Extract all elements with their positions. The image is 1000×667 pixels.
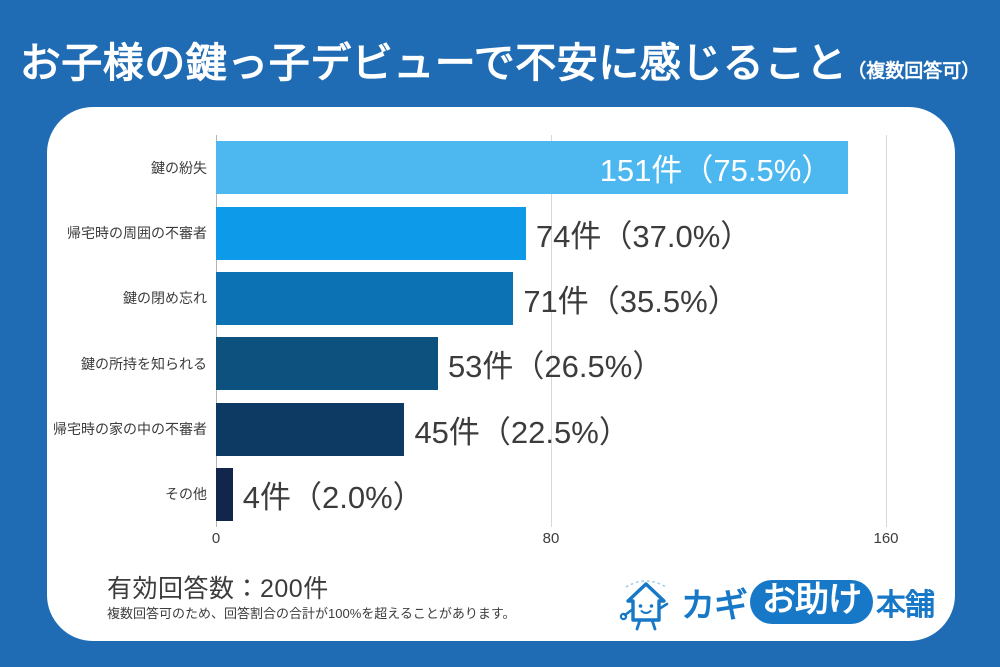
bar-chart: 鍵の紛失帰宅時の周囲の不審者鍵の閉め忘れ鍵の所持を知られる帰宅時の家の中の不審者… (47, 107, 955, 547)
bar-row: 151件（75.5%） (216, 141, 886, 194)
bar-row: 53件（26.5%） (216, 337, 886, 390)
content-card: 鍵の紛失帰宅時の周囲の不審者鍵の閉め忘れ鍵の所持を知られる帰宅時の家の中の不審者… (47, 107, 955, 641)
valid-responses-text: 有効回答数：200件 (107, 569, 329, 605)
brand-logo-part3: 本舗 (876, 580, 934, 624)
bar-rows: 151件（75.5%）74件（37.0%）71件（35.5%）53件（26.5%… (216, 135, 886, 527)
category-label-5: その他 (47, 468, 207, 521)
bar-row: 45件（22.5%） (216, 403, 886, 456)
plot-area: 151件（75.5%）74件（37.0%）71件（35.5%）53件（26.5%… (216, 135, 886, 527)
brand-logo-part2: お助け (750, 580, 873, 623)
x-tick-label-80: 80 (543, 530, 560, 547)
page-title: お子様の鍵っ子デビューで不安に感じること （複数回答可） (0, 22, 1000, 84)
category-label-1: 帰宅時の周囲の不審者 (47, 207, 207, 260)
brand-logo-text: カギ お助け 本舗 (681, 578, 934, 627)
bar-value-label-5: 4件（2.0%） (233, 472, 424, 517)
bar-value-label-0: 151件（75.5%） (600, 145, 849, 190)
bar-3[interactable] (216, 337, 438, 390)
bar-value-label-2: 71件（35.5%） (513, 276, 738, 321)
brand-logo: カギ お助け 本舗 (615, 569, 935, 635)
footer-note-text: 複数回答可のため、回答割合の合計が100%を超えることがあります。 (107, 603, 516, 622)
x-tick-label-0: 0 (212, 530, 220, 547)
bar-4[interactable] (216, 403, 404, 456)
bar-row: 74件（37.0%） (216, 207, 886, 260)
bar-row: 4件（2.0%） (216, 468, 886, 521)
category-label-4: 帰宅時の家の中の不審者 (47, 403, 207, 456)
bar-row: 71件（35.5%） (216, 272, 886, 325)
brand-logo-part1: カギ (681, 578, 747, 627)
category-label-0: 鍵の紛失 (47, 141, 207, 194)
bar-0[interactable]: 151件（75.5%） (216, 141, 848, 194)
gridline-160 (886, 135, 887, 527)
bar-value-label-4: 45件（22.5%） (404, 407, 629, 452)
page-title-main: お子様の鍵っ子デビューで不安に感じること (20, 43, 848, 84)
house-mascot-icon (615, 571, 677, 633)
x-axis-tick-labels: 080160 (216, 530, 886, 554)
infographic-root: お子様の鍵っ子デビューで不安に感じること （複数回答可） 鍵の紛失帰宅時の周囲の… (0, 0, 1000, 667)
bar-2[interactable] (216, 272, 513, 325)
bar-value-label-3: 53件（26.5%） (438, 341, 663, 386)
x-tick-label-160: 160 (873, 530, 898, 547)
bar-5[interactable] (216, 468, 233, 521)
bar-1[interactable] (216, 207, 526, 260)
category-axis-labels: 鍵の紛失帰宅時の周囲の不審者鍵の閉め忘れ鍵の所持を知られる帰宅時の家の中の不審者… (47, 135, 207, 527)
bar-value-label-1: 74件（37.0%） (526, 211, 751, 256)
category-label-2: 鍵の閉め忘れ (47, 272, 207, 325)
page-title-sub: （複数回答可） (847, 62, 980, 84)
card-footer: 有効回答数：200件 複数回答可のため、回答割合の合計が100%を超えることがあ… (47, 559, 955, 641)
category-label-3: 鍵の所持を知られる (47, 337, 207, 390)
